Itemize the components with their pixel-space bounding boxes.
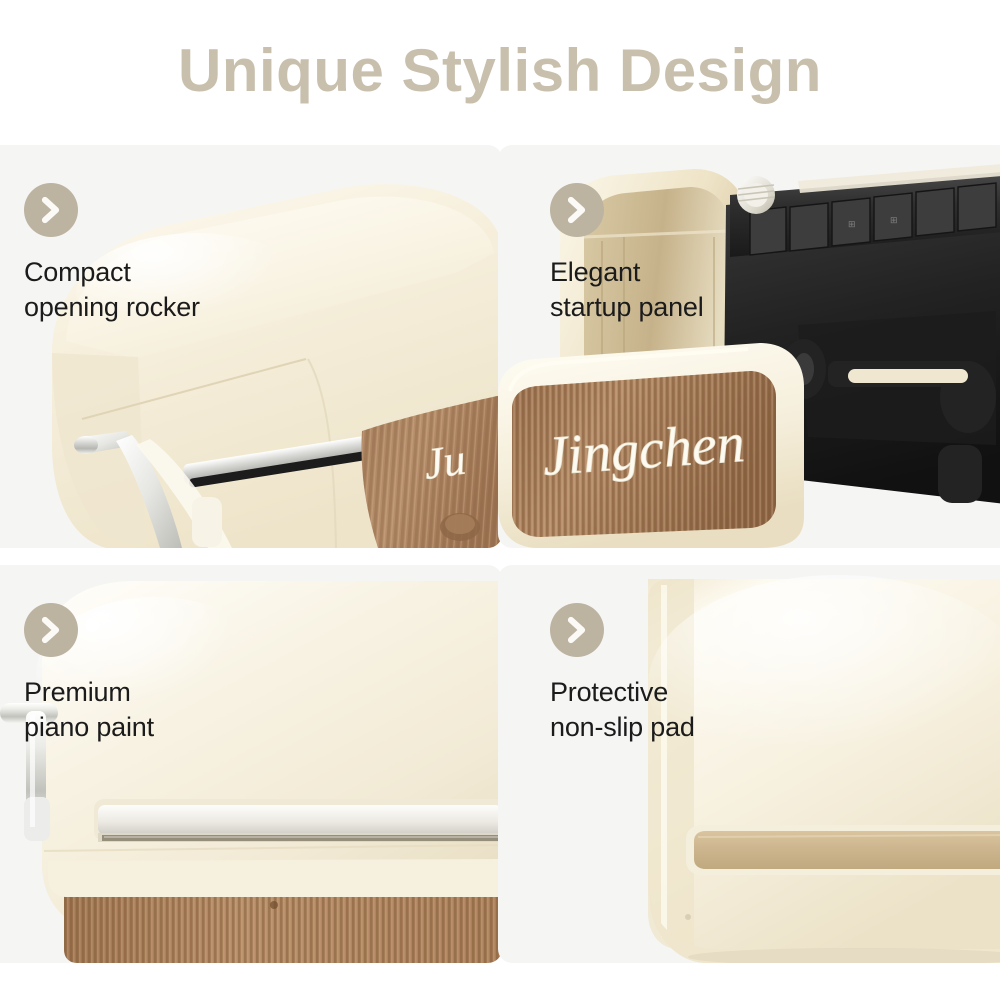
feature-panel-protective-non-slip-pad[interactable]: Protective non-slip pad bbox=[498, 565, 1000, 963]
caption-line-2: non-slip pad bbox=[550, 710, 695, 745]
caption-line-2: piano paint bbox=[24, 710, 154, 745]
feature-panel-premium-piano-paint[interactable]: Premium piano paint bbox=[0, 565, 502, 963]
feature-panel-elegant-startup-panel[interactable]: ⊞ ⊞ bbox=[498, 145, 1000, 548]
caption-line-1: Elegant bbox=[550, 255, 704, 290]
caption-line-1: Premium bbox=[24, 675, 154, 710]
feature-panel-compact-opening-rocker[interactable]: Ju bbox=[0, 145, 502, 548]
svg-text:⊞: ⊞ bbox=[890, 215, 898, 225]
chevron-right-icon[interactable] bbox=[550, 183, 604, 237]
chevron-right-icon[interactable] bbox=[24, 603, 78, 657]
page-title: Unique Stylish Design bbox=[0, 36, 1000, 105]
caption-line-1: Protective bbox=[550, 675, 695, 710]
caption-compact-opening-rocker: Compact opening rocker bbox=[24, 183, 200, 325]
caption-line-2: startup panel bbox=[550, 290, 704, 325]
infographic-page: Unique Stylish Design bbox=[0, 0, 1000, 1000]
feature-panel-grid: Ju bbox=[0, 145, 1000, 963]
caption-premium-piano-paint: Premium piano paint bbox=[24, 603, 154, 745]
svg-text:⊞: ⊞ bbox=[848, 219, 856, 229]
caption-line-2: opening rocker bbox=[24, 290, 200, 325]
caption-line-1: Compact bbox=[24, 255, 200, 290]
chevron-right-icon[interactable] bbox=[24, 183, 78, 237]
caption-elegant-startup-panel: Elegant startup panel bbox=[550, 183, 704, 325]
caption-protective-non-slip-pad: Protective non-slip pad bbox=[550, 603, 695, 745]
svg-text:Ju: Ju bbox=[421, 435, 469, 489]
chevron-right-icon[interactable] bbox=[550, 603, 604, 657]
